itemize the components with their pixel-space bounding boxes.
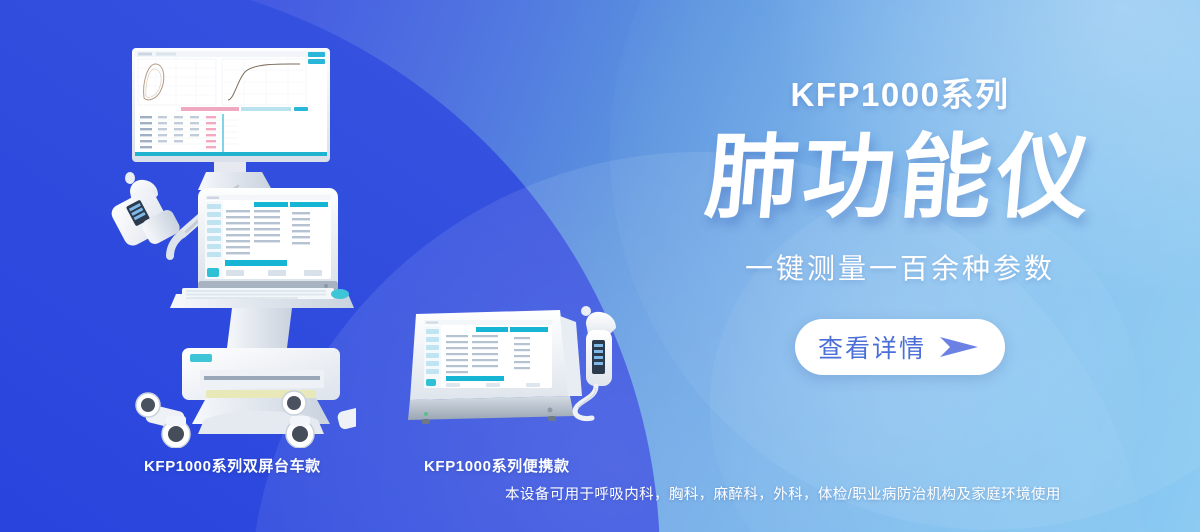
hero-copy-block: KFP1000系列 肺功能仪 一键测量一百余种参数 查看详情 [640,78,1160,375]
background-left-band [0,0,72,532]
hero-headline: 肺功能仪 [636,131,1164,225]
cart-spirometer-image [86,38,356,448]
cart-top-monitor [132,48,330,190]
arrow-right-icon [938,334,982,360]
portable-spirometer-image [400,300,630,430]
hero-subline: 一键测量一百余种参数 [640,255,1160,283]
view-details-button[interactable]: 查看详情 [795,319,1005,375]
hero-kicker: KFP1000系列 [640,78,1160,111]
caption-portable-model: KFP1000系列便携款 [424,455,570,476]
background-arc-dark [0,0,660,532]
cart-spirometer-handheld [108,172,238,256]
view-details-label: 查看详情 [818,329,926,365]
cart-keyboard-shelf [170,288,354,308]
product-hero-banner: KFP1000系列 肺功能仪 一键测量一百余种参数 查看详情 KFP1000系列… [0,0,1200,532]
usage-footnote: 本设备可用于呼吸内科，胸科，麻醉科，外科，体检/职业病防治机构及家庭环境使用 [505,483,1061,504]
portable-handheld-unit [575,306,616,419]
cart-touch-screen [198,188,338,292]
caption-cart-model: KFP1000系列双屏台车款 [144,455,321,476]
cart-base-and-printer [136,308,356,448]
